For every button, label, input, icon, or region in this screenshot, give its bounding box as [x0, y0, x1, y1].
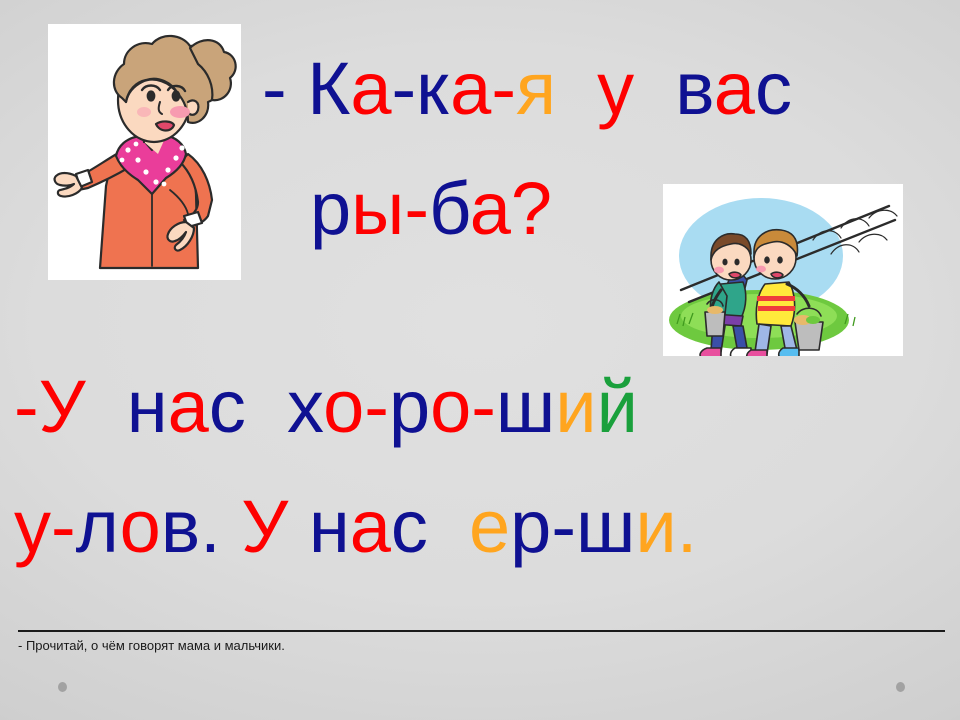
syllable-segment: ш	[576, 485, 635, 568]
syllable-segment	[221, 485, 242, 568]
syllable-segment: с	[391, 485, 428, 568]
woman-illustration-graphic	[48, 24, 241, 280]
syllable-segment: с	[755, 47, 792, 130]
syllable-segment: а	[350, 47, 391, 130]
woman-illustration	[48, 24, 241, 280]
syllable-segment: и	[555, 365, 596, 448]
syllable-segment: -	[391, 47, 416, 130]
syllable-segment: -	[551, 485, 576, 568]
syllable-segment: а	[168, 365, 209, 448]
syllable-segment: о	[323, 365, 364, 448]
syllable-segment: -	[491, 47, 516, 130]
syllable-segment: ?	[511, 167, 552, 250]
syllable-segment: и	[635, 485, 676, 568]
syllable-segment	[634, 47, 675, 130]
syllable-segment	[287, 47, 308, 130]
text-line-4: у-лов. У нас ер-ши.	[14, 490, 697, 564]
decorative-dot-left	[58, 682, 67, 692]
syllable-segment: ы	[351, 167, 404, 250]
text-line-2: ры-ба?	[310, 172, 552, 246]
footer-divider	[18, 630, 945, 632]
syllable-segment: в	[161, 485, 200, 568]
syllable-segment: -	[14, 365, 39, 448]
syllable-segment	[556, 47, 597, 130]
syllable-segment: а	[350, 485, 391, 568]
syllable-segment: б	[429, 167, 470, 250]
syllable-segment: К	[307, 47, 350, 130]
syllable-segment: ш	[496, 365, 555, 448]
syllable-segment: .	[200, 485, 221, 568]
slide-canvas: - Ка-ка-я у вас ры-ба? -У нас хо-ро-ший …	[0, 0, 960, 720]
syllable-segment: а	[450, 47, 491, 130]
syllable-segment: й	[597, 365, 638, 448]
syllable-segment	[246, 365, 287, 448]
syllable-segment: к	[416, 47, 450, 130]
text-line-3: -У нас хо-ро-ший	[14, 370, 638, 444]
syllable-segment: а	[470, 167, 511, 250]
syllable-segment: У	[39, 365, 86, 448]
syllable-segment: в	[675, 47, 713, 130]
syllable-segment: я	[516, 47, 556, 130]
syllable-segment	[428, 485, 469, 568]
syllable-segment: н	[127, 365, 168, 448]
syllable-segment	[288, 485, 309, 568]
decorative-dot-right	[896, 682, 905, 692]
syllable-segment: -	[471, 365, 496, 448]
syllable-segment: р	[510, 485, 551, 568]
syllable-segment: -	[262, 47, 287, 130]
footer-note: - Прочитай, о чём говорят мама и мальчик…	[18, 638, 285, 653]
syllable-segment: У	[241, 485, 288, 568]
syllable-segment: у	[14, 485, 51, 568]
text-line-1: - Ка-ка-я у вас	[262, 52, 792, 126]
boys-fishing-illustration	[663, 184, 903, 356]
syllable-segment: е	[469, 485, 510, 568]
syllable-segment: -	[404, 167, 429, 250]
syllable-segment: с	[209, 365, 246, 448]
syllable-segment	[86, 365, 127, 448]
syllable-segment: л	[76, 485, 120, 568]
syllable-segment: -	[364, 365, 389, 448]
syllable-segment: х	[287, 365, 323, 448]
syllable-segment: о	[430, 365, 471, 448]
boys-fishing-graphic	[663, 184, 903, 356]
syllable-segment: а	[714, 47, 755, 130]
syllable-segment: о	[120, 485, 161, 568]
syllable-segment: н	[309, 485, 350, 568]
syllable-segment: р	[389, 365, 430, 448]
syllable-segment: р	[310, 167, 351, 250]
syllable-segment: у	[597, 47, 634, 130]
syllable-segment: -	[51, 485, 76, 568]
syllable-segment: .	[677, 485, 698, 568]
